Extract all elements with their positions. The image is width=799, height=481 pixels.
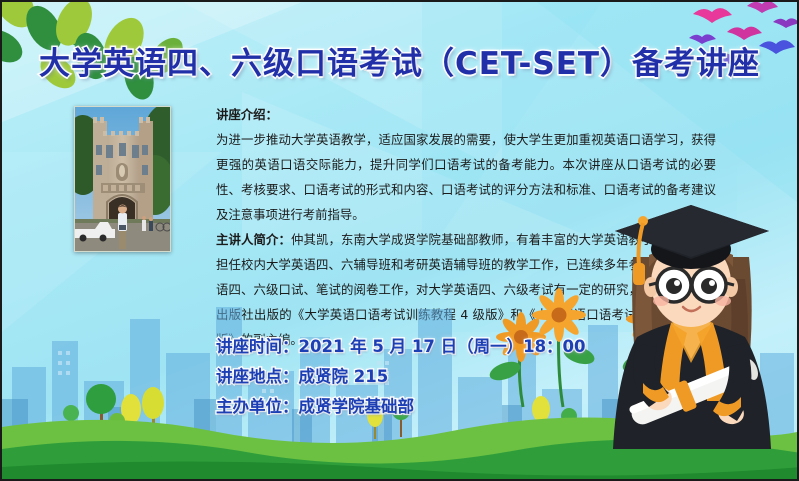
event-organizer: 主办单位：成贤学院基础部 bbox=[216, 392, 586, 422]
speaker-photo bbox=[74, 106, 171, 252]
event-place: 讲座地点：成贤院 215 bbox=[216, 362, 586, 392]
page-title: 大学英语四、六级口语考试（CET-SET）备考讲座 bbox=[2, 38, 797, 83]
event-time: 讲座时间：2021 年 5 月 17 日（周一）18：00 bbox=[216, 332, 586, 362]
intro-section1-label-line: 讲座介绍： bbox=[216, 102, 716, 127]
event-info: 讲座时间：2021 年 5 月 17 日（周一）18：00 讲座地点：成贤院 2… bbox=[216, 332, 586, 422]
intro-section2-label: 主讲人简介： bbox=[216, 232, 291, 247]
poster-canvas: 大学英语四、六级口语考试（CET-SET）备考讲座 bbox=[0, 0, 799, 481]
graduate-girl-illustration bbox=[581, 187, 797, 455]
intro-section1-label: 讲座介绍： bbox=[216, 107, 278, 122]
